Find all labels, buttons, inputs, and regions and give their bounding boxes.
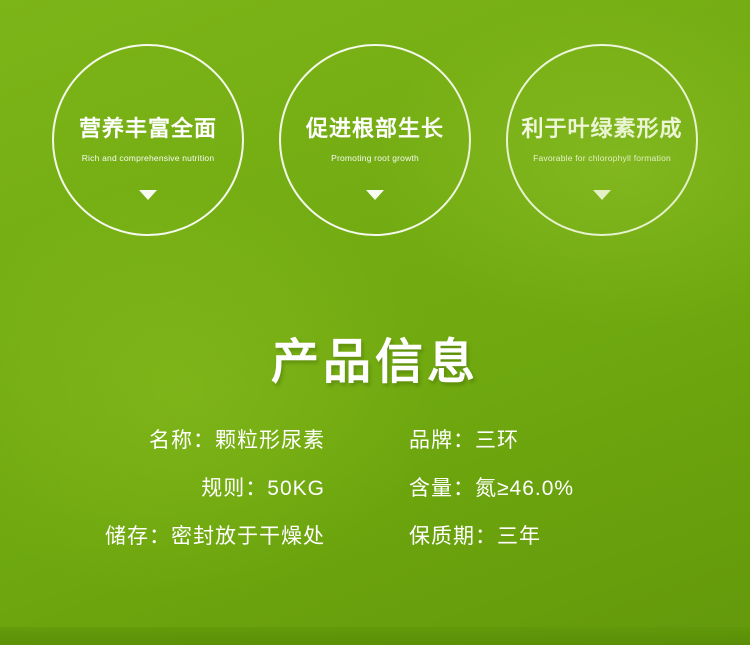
down-arrow-icon	[366, 190, 384, 200]
info-cell-content: 含量：氮≥46.0%	[325, 472, 750, 502]
feature-2-subtitle: Promoting root growth	[331, 153, 419, 163]
feature-3-subtitle: Favorable for chlorophyll formation	[533, 153, 671, 163]
product-info-heading: 产品信息	[0, 322, 750, 392]
feature-circle-3: 利于叶绿素形成 Favorable for chlorophyll format…	[506, 44, 698, 236]
product-info-table: 名称：颗粒形尿素 品牌：三环 规则：50KG 含量：氮≥46.0% 储存：密封放…	[0, 424, 750, 568]
info-cell-brand: 品牌：三环	[325, 424, 750, 454]
feature-circle-2: 促进根部生长 Promoting root growth	[279, 44, 471, 236]
feature-circles: 营养丰富全面 Rich and comprehensive nutrition …	[0, 44, 750, 264]
info-cell-spec: 规则：50KG	[0, 472, 325, 502]
bottom-band	[0, 627, 750, 645]
info-row: 名称：颗粒形尿素 品牌：三环	[0, 424, 750, 454]
feature-1-title: 营养丰富全面	[79, 117, 217, 141]
product-detail-page: 营养丰富全面 Rich and comprehensive nutrition …	[0, 0, 750, 645]
info-cell-shelf-life: 保质期：三年	[325, 520, 750, 550]
info-cell-name: 名称：颗粒形尿素	[0, 424, 325, 454]
info-row: 储存：密封放于干燥处 保质期：三年	[0, 520, 750, 550]
feature-circle-1: 营养丰富全面 Rich and comprehensive nutrition	[52, 44, 244, 236]
down-arrow-icon	[139, 190, 157, 200]
feature-1-subtitle: Rich and comprehensive nutrition	[82, 153, 215, 163]
feature-3-title: 利于叶绿素形成	[521, 117, 682, 141]
down-arrow-icon	[593, 190, 611, 200]
info-cell-storage: 储存：密封放于干燥处	[0, 520, 325, 550]
info-row: 规则：50KG 含量：氮≥46.0%	[0, 472, 750, 502]
feature-2-title: 促进根部生长	[306, 117, 444, 141]
